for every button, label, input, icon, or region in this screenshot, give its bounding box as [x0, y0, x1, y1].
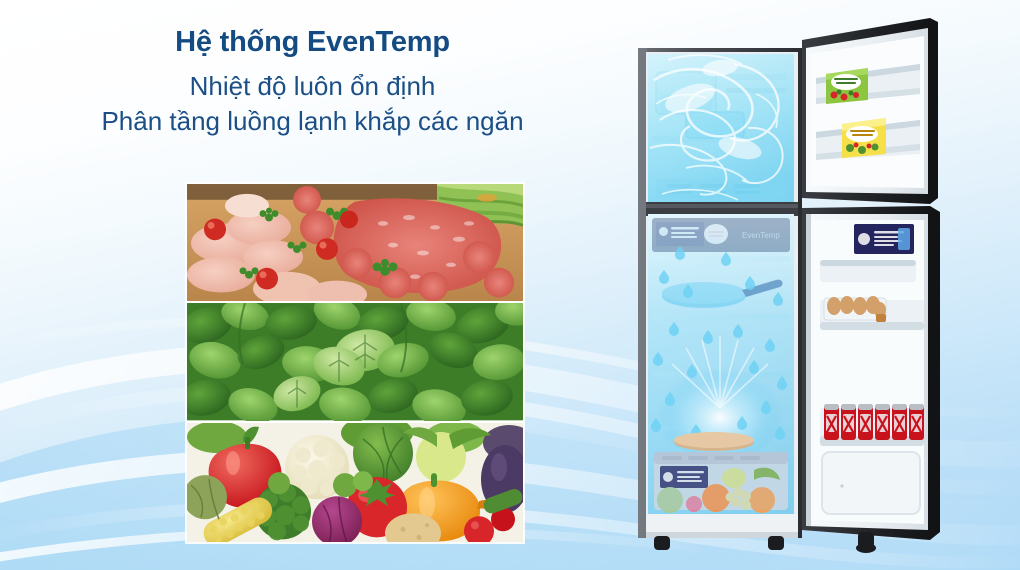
promo-banner: Hệ thống EvenTemp Nhiệt độ luôn ổn định …	[0, 0, 1020, 570]
raw-meat-illustration	[187, 184, 523, 301]
mixed-vegetables-panel	[187, 423, 523, 542]
mixed-vegetables-illustration	[187, 423, 523, 542]
raw-meat-panel	[187, 184, 523, 303]
leafy-greens-panel	[187, 303, 523, 422]
food-image-stack	[187, 184, 523, 542]
subtitle-line-2: Phân tầng luồng lạnh khắp các ngăn	[0, 104, 625, 139]
refrigerator: EvenTemp	[630, 8, 955, 560]
page-title: Hệ thống EvenTemp	[0, 24, 625, 60]
leafy-greens-illustration	[187, 303, 523, 420]
subtitle-line-1: Nhiệt độ luôn ổn định	[0, 69, 625, 104]
headline-block: Hệ thống EvenTemp Nhiệt độ luôn ổn định …	[0, 24, 625, 138]
